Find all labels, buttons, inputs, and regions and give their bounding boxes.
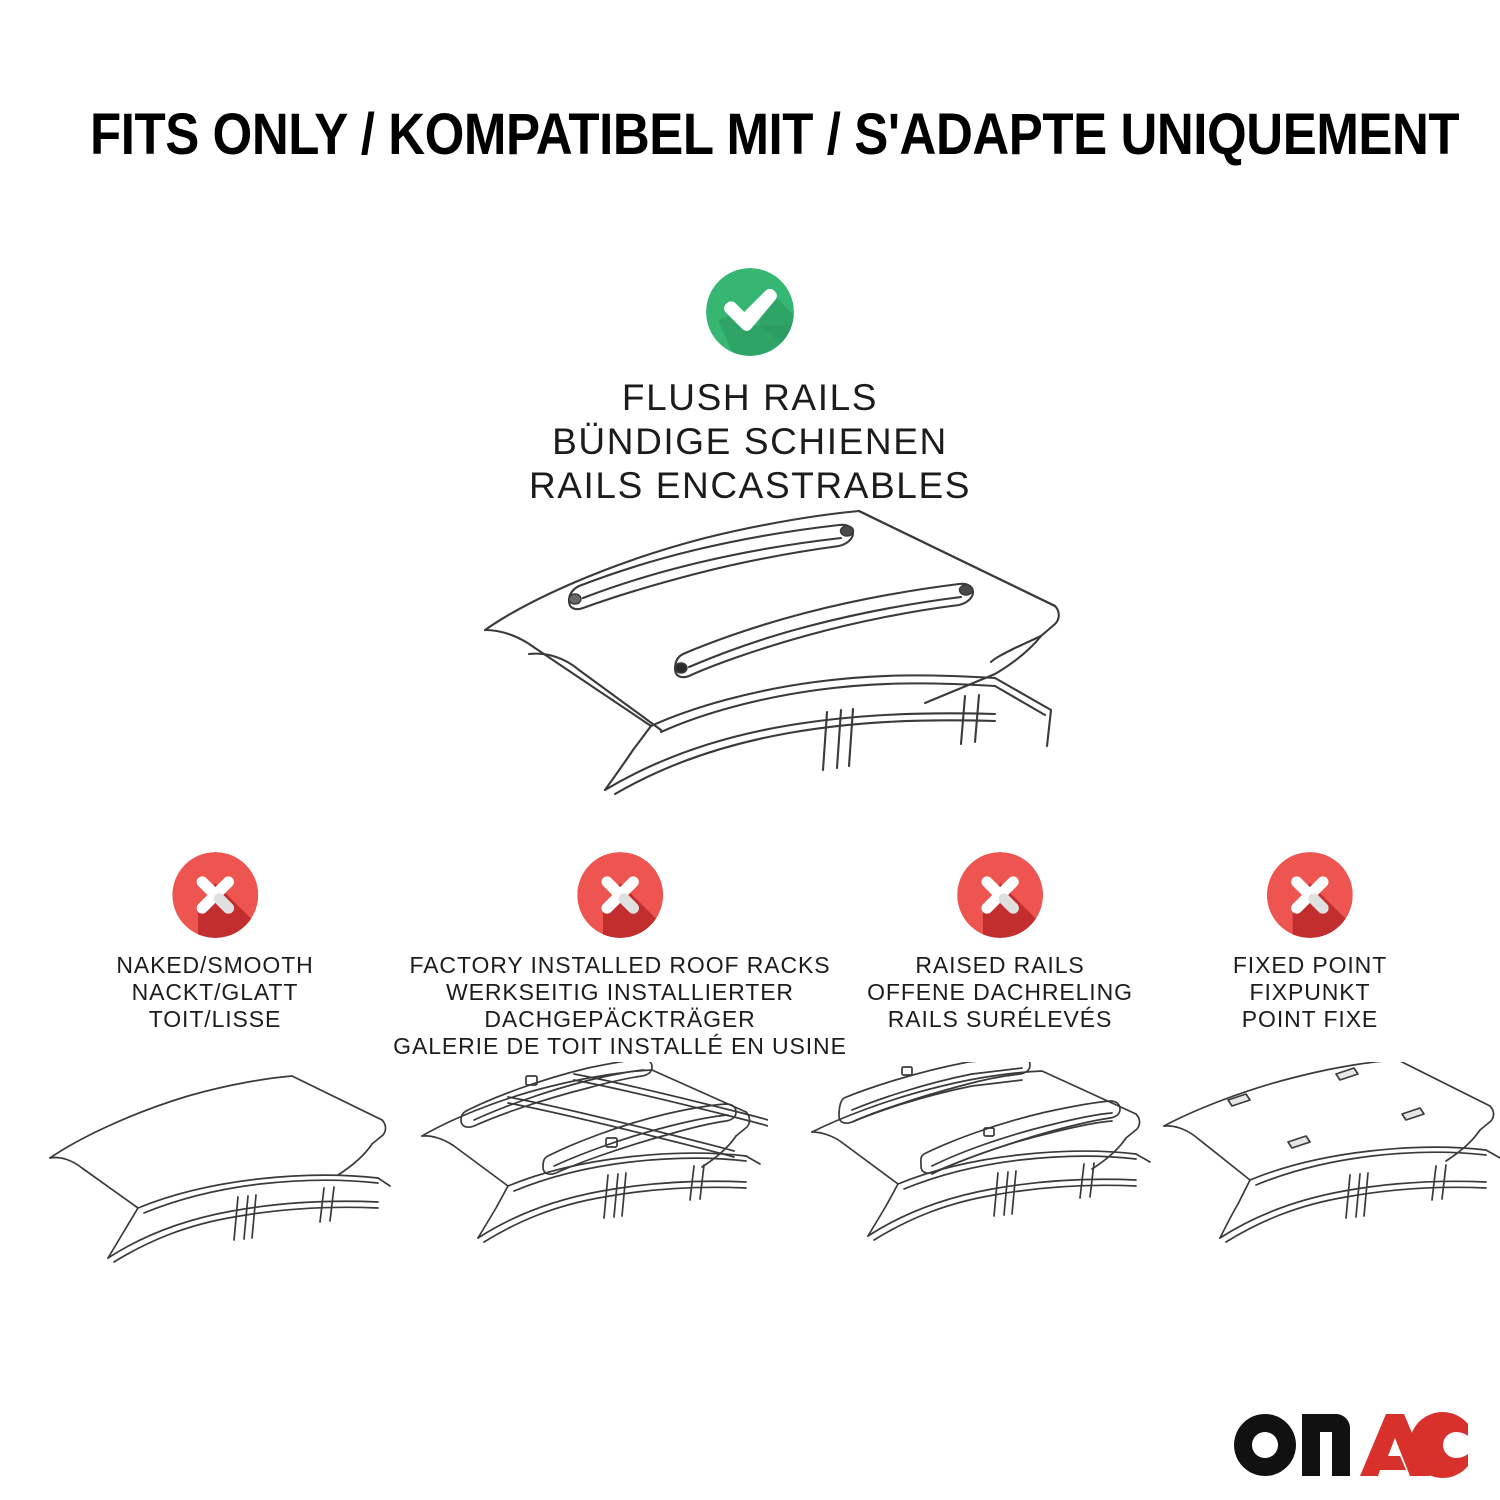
car-roof-with-flush-rails-illustration — [455, 498, 1065, 798]
option-label-de: FIXPUNKT — [1233, 979, 1387, 1006]
car-roof-raised-rails-illustration — [806, 1062, 1158, 1284]
incompatible-option-fixed-point: FIXED POINT FIXPUNKT POINT FIXE — [1233, 852, 1387, 1033]
incompatible-option-raised-rails: RAISED RAILS OFFENE DACHRELING RAILS SUR… — [867, 852, 1133, 1033]
check-circle-icon — [706, 268, 794, 356]
option-label-fr: POINT FIXE — [1233, 1006, 1387, 1033]
cross-circle-icon — [957, 852, 1043, 938]
option-label-fr: RAILS SURÉLEVÉS — [867, 1006, 1133, 1033]
option-label-en: FACTORY INSTALLED ROOF RACKS — [393, 952, 847, 979]
option-label-de-2: DACHGEPÄCKTRÄGER — [393, 1006, 847, 1033]
approved-label-en: FLUSH RAILS — [529, 376, 971, 420]
cross-circle-icon — [577, 852, 663, 938]
option-label-de: OFFENE DACHRELING — [867, 979, 1133, 1006]
car-roof-factory-roof-racks-illustration — [416, 1062, 768, 1284]
option-label-fr: TOIT/LISSE — [116, 1006, 313, 1033]
option-label-en: NAKED/SMOOTH — [116, 952, 313, 979]
car-roof-fixed-point-illustration — [1150, 1062, 1500, 1284]
omac-logo — [1232, 1412, 1468, 1478]
option-label-group: FACTORY INSTALLED ROOF RACKS WERKSEITIG … — [393, 952, 847, 1060]
approved-section: FLUSH RAILS BÜNDIGE SCHIENEN RAILS ENCAS… — [0, 268, 1500, 508]
cross-circle-icon — [1267, 852, 1353, 938]
incompatible-option-naked-smooth: NAKED/SMOOTH NACKT/GLATT TOIT/LISSE — [116, 852, 313, 1033]
incompatible-section: NAKED/SMOOTH NACKT/GLATT TOIT/LISSE — [0, 852, 1500, 1082]
option-label-fr: GALERIE DE TOIT INSTALLÉ EN USINE — [393, 1033, 847, 1060]
page-title: FITS ONLY / KOMPATIBEL MIT / S'ADAPTE UN… — [90, 104, 1410, 166]
option-label-de-1: WERKSEITIG INSTALLIERTER — [393, 979, 847, 1006]
option-label-group: RAISED RAILS OFFENE DACHRELING RAILS SUR… — [867, 952, 1133, 1033]
incompatible-option-factory-roof-racks: FACTORY INSTALLED ROOF RACKS WERKSEITIG … — [393, 852, 847, 1060]
option-label-de: NACKT/GLATT — [116, 979, 313, 1006]
option-label-group: NAKED/SMOOTH NACKT/GLATT TOIT/LISSE — [116, 952, 313, 1033]
option-label-en: FIXED POINT — [1233, 952, 1387, 979]
approved-label-de: BÜNDIGE SCHIENEN — [529, 420, 971, 464]
car-roof-naked-smooth-illustration — [42, 1062, 394, 1284]
cross-circle-icon — [172, 852, 258, 938]
option-label-en: RAISED RAILS — [867, 952, 1133, 979]
option-label-group: FIXED POINT FIXPUNKT POINT FIXE — [1233, 952, 1387, 1033]
approved-label-group: FLUSH RAILS BÜNDIGE SCHIENEN RAILS ENCAS… — [529, 376, 971, 508]
